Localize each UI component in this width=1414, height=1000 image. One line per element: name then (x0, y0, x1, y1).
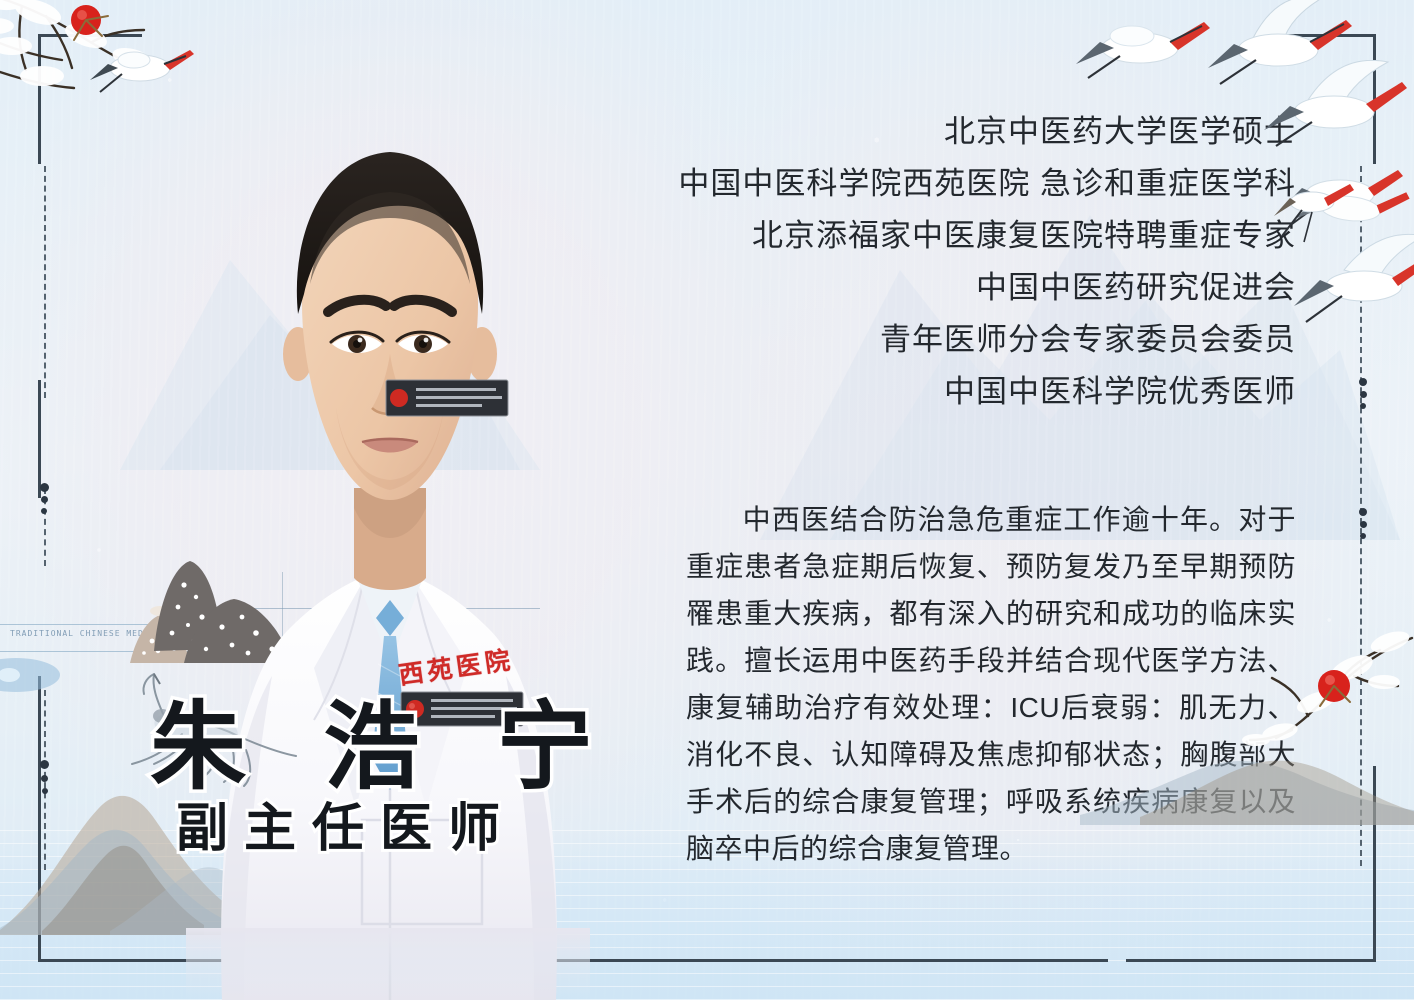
decor-dot (1360, 533, 1366, 539)
decor-dot (40, 760, 49, 769)
doctor-name: 朱 浩 宁 (150, 699, 615, 795)
corner-bracket-icon (1272, 34, 1376, 37)
red-crowned-crane-icon (1276, 161, 1414, 259)
bio-paragraph: 中西医结合防治急危重症工作逾十年。对于重症患者急症期后恢复、预防复发乃至早期预防… (686, 504, 1296, 864)
berry-icon (71, 5, 101, 35)
decor-dot (1360, 403, 1366, 409)
berry-icon (1318, 670, 1350, 702)
decor-dot (1360, 391, 1367, 398)
decor-dot (41, 496, 48, 503)
credential-line: 中国中医科学院西苑医院 急诊和重症医学科 (576, 158, 1296, 210)
doctor-name-block: 朱 浩 宁 副主任医师 (150, 699, 615, 855)
dashed-rule-icon (1360, 166, 1362, 866)
decor-dot (41, 775, 48, 782)
credential-line: 中国中医药研究促进会 (576, 262, 1296, 314)
doctor-title: 副主任医师 (150, 803, 615, 855)
plum-blossom-branch-icon (0, 0, 212, 141)
name-badge-icon (386, 380, 508, 416)
decor-rule-vertical (38, 380, 41, 498)
corner-bracket-icon (38, 34, 41, 164)
credential-line: 中国中医科学院优秀医师 (576, 366, 1296, 418)
decor-dot (42, 788, 48, 794)
bio-paragraph-wrapper: 中西医结合防治急危重症工作逾十年。对于重症患者急症期后恢复、预防复发乃至早期预防… (686, 496, 1296, 872)
corner-bracket-icon (1373, 766, 1376, 962)
credential-line: 青年医师分会专家委员会委员 (576, 314, 1296, 366)
corner-bracket-icon (38, 766, 41, 962)
dashed-rule-icon (44, 488, 46, 566)
dashed-rule-icon (44, 690, 46, 870)
decor-dot (1359, 508, 1367, 516)
decor-dot (1359, 378, 1367, 386)
red-crowned-crane-icon (78, 34, 198, 109)
red-crowned-crane-icon (1186, 0, 1356, 109)
decor-blue-blob (0, 658, 60, 692)
doctor-portrait (186, 108, 590, 1000)
corner-bracket-icon (38, 34, 142, 37)
decor-pill-label: TRADITIONAL CHINESE MEDICINE (10, 629, 173, 638)
credential-line: 北京添福家中医康复医院特聘重症专家 (576, 210, 1296, 262)
corner-bracket-icon (1126, 959, 1376, 962)
decor-dot (41, 508, 47, 514)
credentials-list: 北京中医药大学医学硕士 中国中医科学院西苑医院 急诊和重症医学科 北京添福家中医… (576, 106, 1296, 418)
decor-dot (1360, 521, 1367, 528)
doctor-profile-poster: TRADITIONAL CHINESE MEDICINE (0, 0, 1414, 1000)
corner-bracket-icon (1373, 34, 1376, 164)
decor-dot (40, 483, 49, 492)
dashed-rule-icon (44, 166, 46, 398)
credential-line: 北京中医药大学医学硕士 (576, 106, 1296, 158)
red-crowned-crane-icon (1062, 4, 1212, 99)
decor-rule-vertical (38, 676, 41, 884)
